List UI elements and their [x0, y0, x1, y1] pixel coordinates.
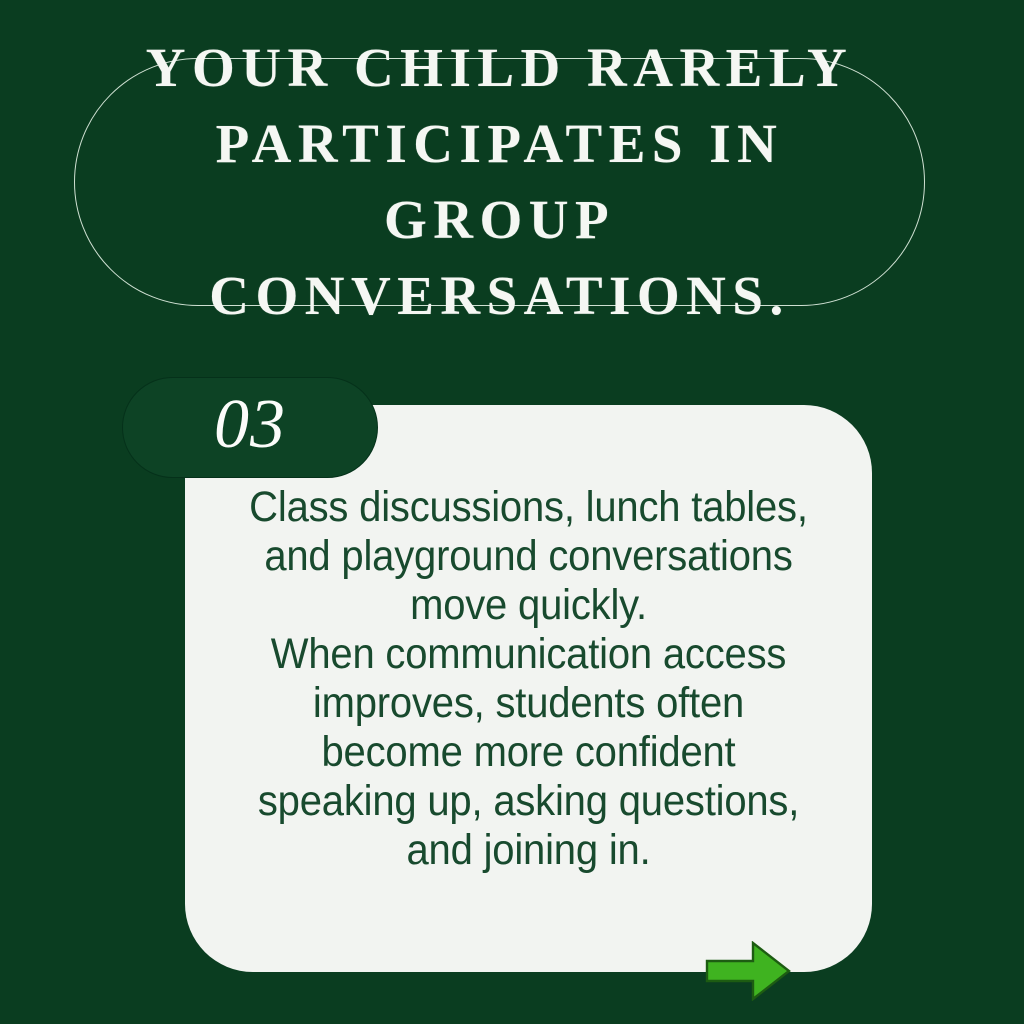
arrow-right-icon[interactable] — [705, 941, 791, 1001]
body-text: Class discussions, lunch tables, and pla… — [226, 483, 831, 875]
slide-canvas: Your child rarely participates in group … — [0, 0, 1024, 1024]
headline-panel: Your child rarely participates in group … — [74, 58, 925, 306]
body-card: Class discussions, lunch tables, and pla… — [185, 405, 872, 972]
headline-text: Your child rarely participates in group … — [75, 30, 924, 334]
step-number-badge: 03 — [122, 377, 378, 478]
step-number-label: 03 — [214, 390, 286, 466]
